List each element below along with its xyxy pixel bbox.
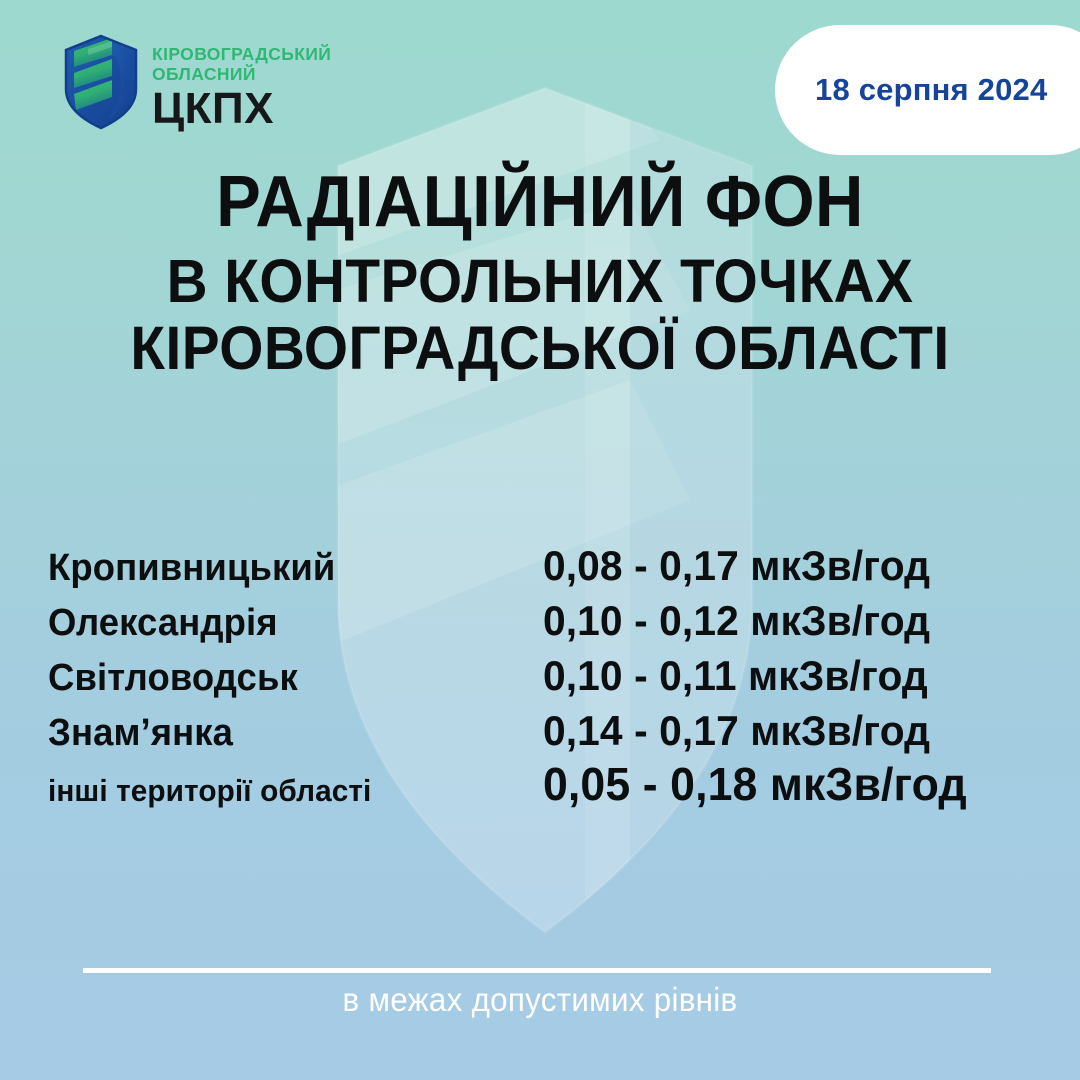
measurement-value: 0,08 - 0,17 мкЗв/год: [543, 544, 930, 588]
footer-note: в межах допустимих рівнів: [27, 980, 1053, 1020]
measurement-row: Знам’янка 0,14 - 0,17 мкЗв/год: [0, 698, 1080, 753]
infographic-poster: КІРОВОГРАДСЬКИЙ ОБЛАСНИЙ ЦКПХ 18 серпня …: [0, 0, 1080, 1080]
brand-logo: КІРОВОГРАДСЬКИЙ ОБЛАСНИЙ ЦКПХ: [62, 33, 331, 132]
organization-abbreviation: ЦКПХ: [152, 86, 331, 132]
shield-logo-icon: [62, 33, 140, 131]
measurement-location: Кропивницький: [48, 548, 335, 588]
date-badge: 18 серпня 2024: [775, 25, 1080, 155]
measurement-location: інші території області: [48, 774, 371, 808]
measurement-location: Олександрія: [48, 603, 278, 643]
page-title-line-1: РАДІАЦІЙНИЙ ФОН: [38, 168, 1042, 238]
measurement-row: Олександрія 0,10 - 0,12 мкЗв/год: [0, 588, 1080, 643]
organization-name: КІРОВОГРАДСЬКИЙ ОБЛАСНИЙ: [152, 44, 331, 84]
page-title-line-3: КІРОВОГРАДСЬКОЇ ОБЛАСТІ: [38, 319, 1042, 378]
page-title: РАДІАЦІЙНИЙ ФОН В КОНТРОЛЬНИХ ТОЧКАХ КІР…: [0, 168, 1080, 378]
measurement-location: Світловодськ: [48, 658, 298, 698]
measurement-row: інші території області 0,05 - 0,18 мкЗв/…: [0, 753, 1080, 808]
footer-divider: [83, 968, 991, 973]
page-title-line-2: В КОНТРОЛЬНИХ ТОЧКАХ: [38, 252, 1042, 311]
measurement-value: 0,14 - 0,17 мкЗв/год: [543, 709, 930, 753]
brand-wordmark: КІРОВОГРАДСЬКИЙ ОБЛАСНИЙ ЦКПХ: [152, 33, 331, 132]
measurement-value: 0,10 - 0,12 мкЗв/год: [543, 599, 930, 643]
date-badge-text: 18 серпня 2024: [815, 72, 1047, 108]
measurement-row: Світловодськ 0,10 - 0,11 мкЗв/год: [0, 643, 1080, 698]
measurement-value: 0,10 - 0,11 мкЗв/год: [543, 654, 928, 698]
measurement-list: Кропивницький 0,08 - 0,17 мкЗв/год Олекс…: [0, 533, 1080, 808]
measurement-location: Знам’янка: [48, 713, 233, 753]
measurement-row: Кропивницький 0,08 - 0,17 мкЗв/год: [0, 533, 1080, 588]
measurement-value: 0,05 - 0,18 мкЗв/год: [543, 760, 967, 808]
